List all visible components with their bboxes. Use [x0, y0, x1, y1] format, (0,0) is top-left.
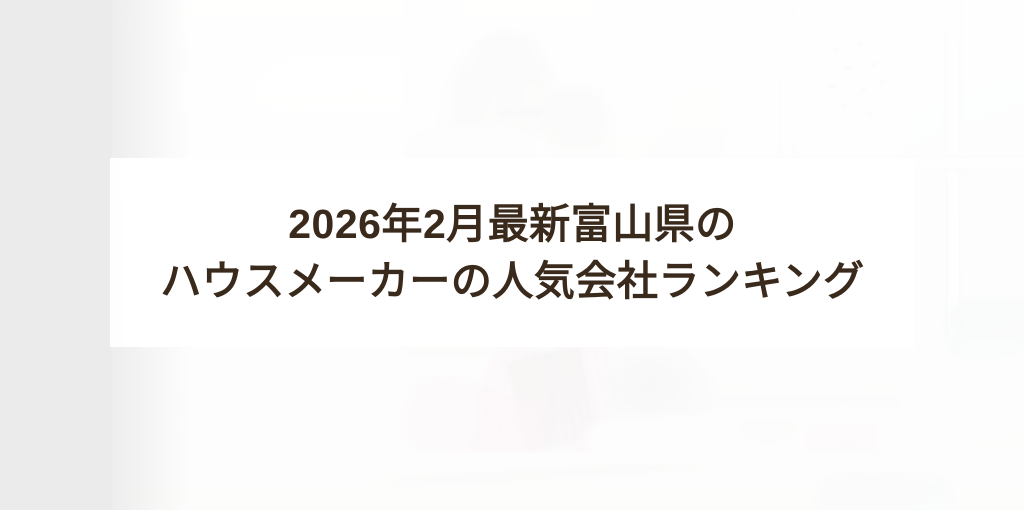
- page-title-line-2: ハウスメーカーの人気会社ランキング: [160, 253, 864, 310]
- page-title-line-1: 2026年2月最新富山県の: [288, 196, 737, 253]
- banner-image: 2026年2月最新富山県の ハウスメーカーの人気会社ランキング: [0, 0, 1024, 510]
- left-gray-band: [0, 0, 112, 510]
- title-overlay-card: 2026年2月最新富山県の ハウスメーカーの人気会社ランキング: [110, 158, 915, 347]
